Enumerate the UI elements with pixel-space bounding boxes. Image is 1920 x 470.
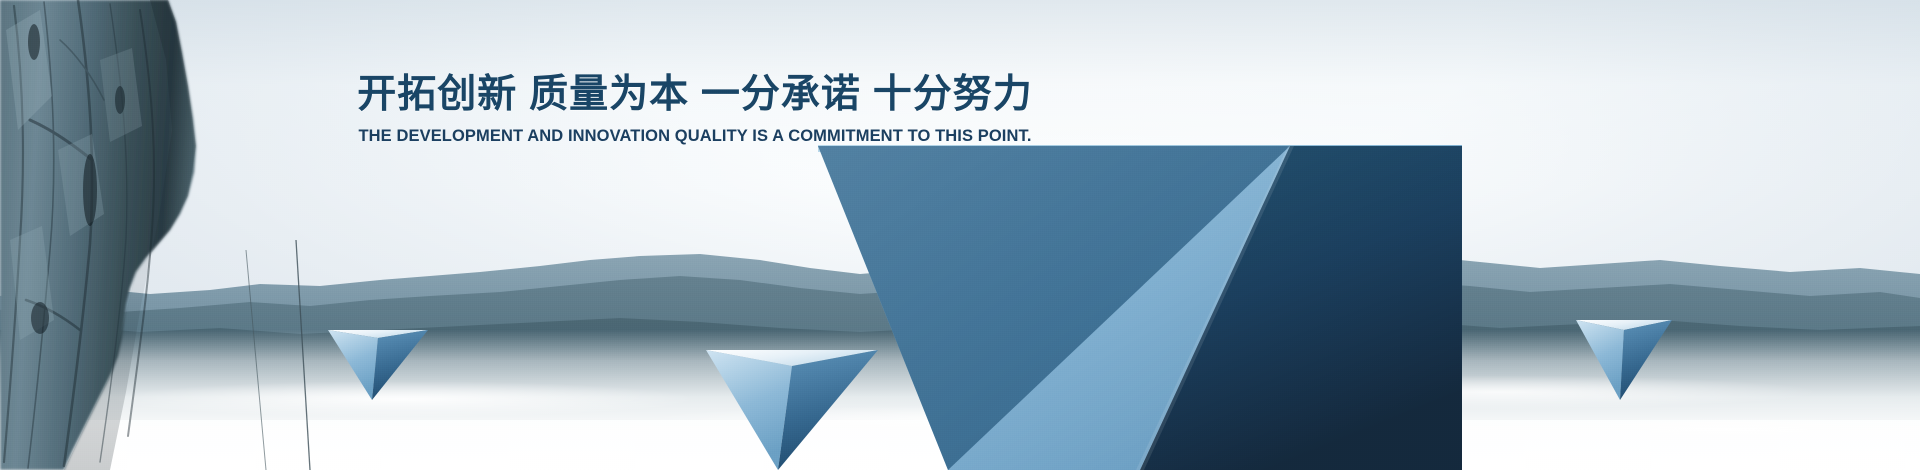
rock-cliff xyxy=(0,0,1920,470)
hero-banner: 开拓创新 质量为本 一分承诺 十分努力 THE DEVELOPMENT AND … xyxy=(0,0,1920,470)
page-subtitle: THE DEVELOPMENT AND INNOVATION QUALITY I… xyxy=(0,126,1390,146)
banner-text-block: 开拓创新 质量为本 一分承诺 十分努力 THE DEVELOPMENT AND … xyxy=(0,72,1390,146)
page-title: 开拓创新 质量为本 一分承诺 十分努力 xyxy=(0,72,1390,118)
